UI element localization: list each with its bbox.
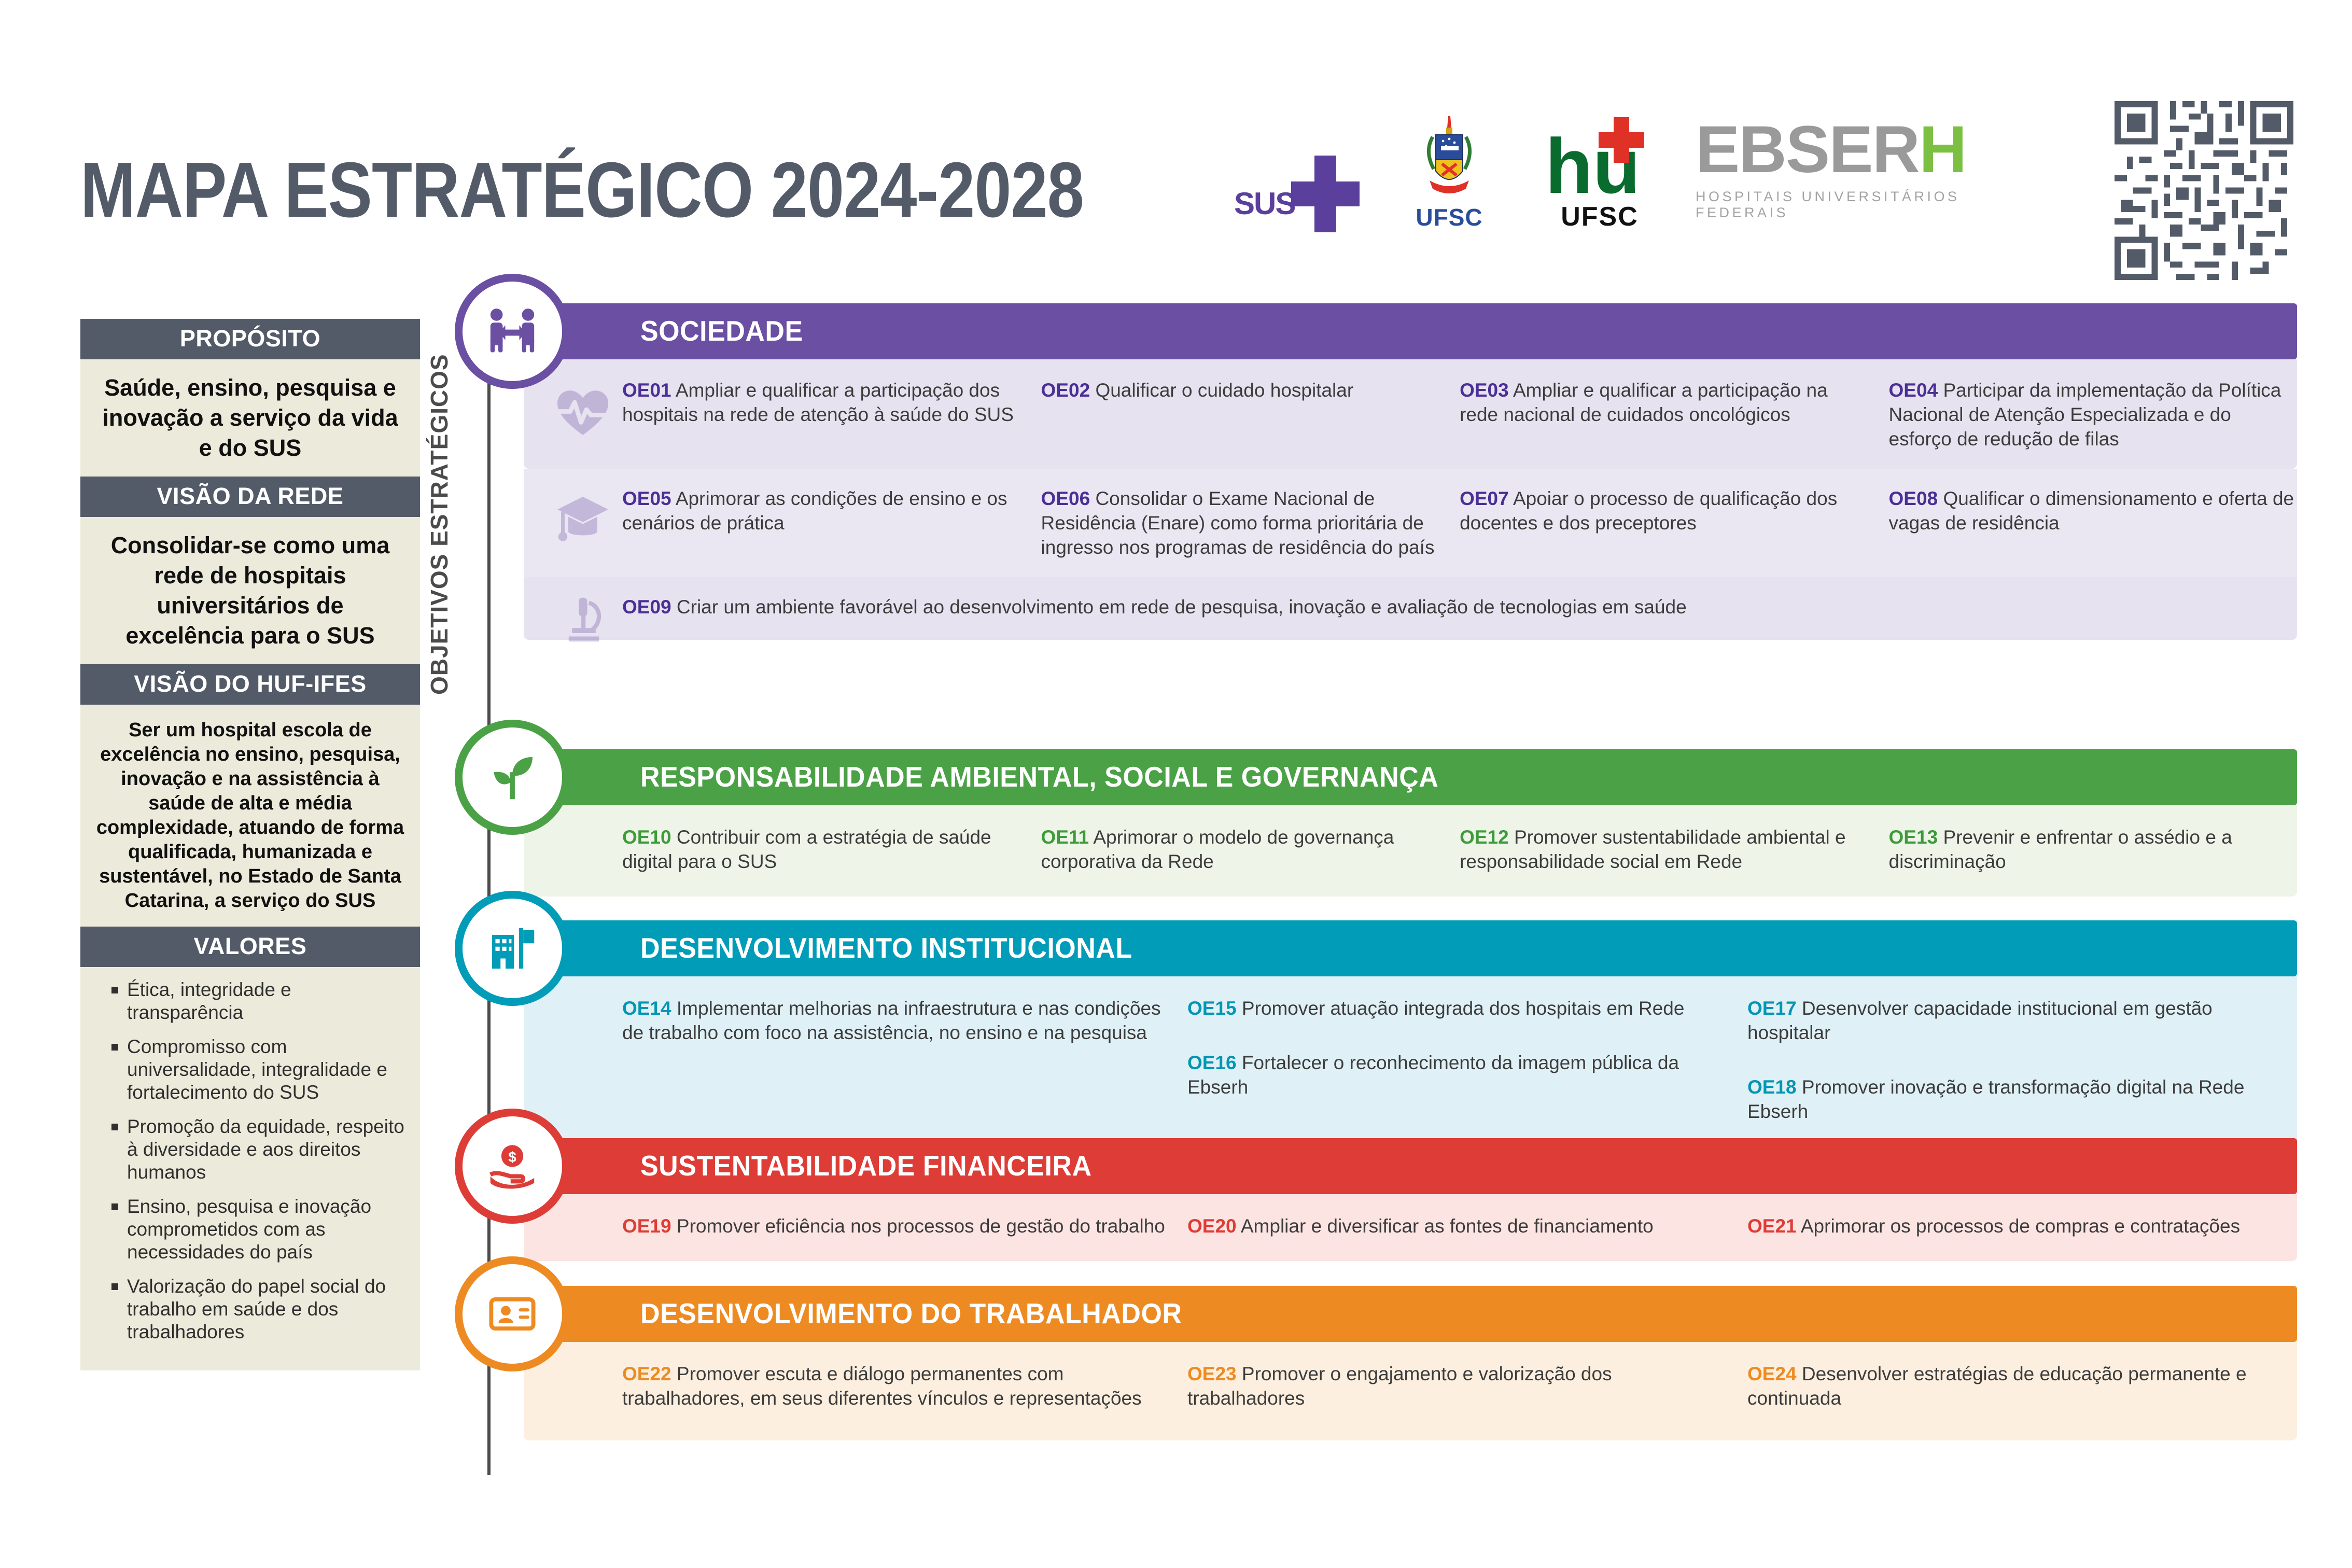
perspective-desenvolvimento-trabalhador: DESENVOLVIMENTO DO TRABALHADOR OE22 Prom…	[524, 1286, 2297, 1440]
sidebar-block-valores: Ética, integridade e transparênciaCompro…	[80, 967, 420, 1370]
poster-header: MAPA ESTRATÉGICO 2024-2028 SUS	[0, 0, 2352, 290]
objective-OE13: OE13 Prevenir e enfrentar o assédio e a …	[1889, 825, 2297, 874]
sidebar-heading-visao-rede: VISÃO DA REDE	[80, 477, 420, 517]
perspective-body-desenvolvimento-trabalhador: OE22 Promover escuta e diálogo permanent…	[524, 1342, 2297, 1440]
objective-code: OE02	[1041, 380, 1090, 401]
objective-code: OE09	[622, 596, 671, 618]
sidebar-block-visao-rede: Consolidar-se como uma rede de hospitais…	[80, 517, 420, 664]
objective-code: OE24	[1747, 1363, 1797, 1384]
valores-item: Ensino, pesquisa e inovação comprometido…	[106, 1195, 404, 1264]
ufsc-logo: UFSC	[1395, 114, 1504, 233]
objective-OE22: OE22 Promover escuta e diálogo permanent…	[622, 1362, 1167, 1410]
objective-text: Ampliar e qualificar a participação dos …	[622, 380, 1014, 425]
perspective-bar-desenvolvimento-trabalhador: DESENVOLVIMENTO DO TRABALHADOR	[524, 1286, 2297, 1342]
valores-item: Compromisso com universalidade, integral…	[106, 1035, 404, 1104]
proposito-text: Saúde, ensino, pesquisa e inovação a ser…	[96, 373, 404, 463]
objective-code: OE06	[1041, 488, 1090, 509]
objective-text: Promover inovação e transformação digita…	[1747, 1076, 2244, 1122]
objective-OE06: OE06 Consolidar o Exame Nacional de Resi…	[1041, 486, 1439, 559]
objective-OE14: OE14 Implementar melhorias na infraestru…	[622, 996, 1167, 1045]
perspective-body-sociedade-row1: OE01 Ampliar e qualificar a participação…	[524, 359, 2297, 469]
qr-code-icon[interactable]	[2115, 101, 2293, 280]
hand-money-icon: $	[463, 1116, 562, 1216]
objective-OE03: OE03 Ampliar e qualificar a participação…	[1460, 378, 1868, 427]
valores-item: Promoção da equidade, respeito à diversi…	[106, 1115, 404, 1184]
objective-OE20: OE20 Ampliar e diversificar as fontes de…	[1187, 1214, 1727, 1238]
objective-OE01: OE01 Ampliar e qualificar a participação…	[622, 378, 1020, 427]
sidebar: PROPÓSITO Saúde, ensino, pesquisa e inov…	[80, 319, 420, 1370]
perspective-sociedade: SOCIEDADE OE01 Ampliar e qualificar a pa…	[524, 303, 2297, 640]
id-badge-icon	[463, 1264, 562, 1364]
perspective-body-sustentabilidade-financeira: OE19 Promover eficiência nos processos d…	[524, 1194, 2297, 1261]
objective-code: OE03	[1460, 380, 1509, 401]
objective-code: OE10	[622, 827, 671, 848]
objective-text: Qualificar o dimensionamento e oferta de…	[1889, 488, 2294, 534]
sus-logo-text: SUS	[1234, 186, 1295, 221]
objective-OE11: OE11 Aprimorar o modelo de governança co…	[1041, 825, 1439, 874]
sidebar-heading-valores: VALORES	[80, 927, 420, 967]
objective-text: Implementar melhorias na infraestrutura …	[622, 998, 1161, 1043]
objective-text: Participar da implementação da Política …	[1889, 380, 2281, 450]
objective-OE09: OE09 Criar um ambiente favorável ao dese…	[622, 595, 2281, 619]
perspective-title-responsabilidade: RESPONSABILIDADE AMBIENTAL, SOCIAL E GOV…	[524, 761, 1438, 794]
perspective-bar-sustentabilidade-financeira: $ SUSTENTABILIDADE FINANCEIRA	[524, 1138, 2297, 1194]
objective-code: OE12	[1460, 827, 1509, 848]
sidebar-block-visao-huf: Ser um hospital escola de excelência no …	[80, 705, 420, 927]
objective-text: Aprimorar o modelo de governança corpora…	[1041, 827, 1394, 872]
objective-OE15: OE15 Promover atuação integrada dos hosp…	[1187, 996, 1727, 1020]
objective-code: OE19	[622, 1215, 671, 1237]
objective-text: Qualificar o cuidado hospitalar	[1095, 380, 1353, 401]
perspective-bar-desenvolvimento-institucional: DESENVOLVIMENTO INSTITUCIONAL	[524, 920, 2297, 976]
perspective-title-desenvolvimento-trabalhador: DESENVOLVIMENTO DO TRABALHADOR	[524, 1298, 1182, 1331]
objective-text: Aprimorar os processos de compras e cont…	[1801, 1215, 2240, 1237]
sprout-icon	[463, 727, 562, 827]
objective-text: Criar um ambiente favorável ao desenvolv…	[677, 596, 1687, 618]
objective-OE12: OE12 Promover sustentabilidade ambiental…	[1460, 825, 1868, 874]
sus-logo: SUS	[1234, 156, 1364, 233]
sidebar-heading-visao-huf: VISÃO DO HUF-IFES	[80, 664, 420, 705]
objective-code: OE07	[1460, 488, 1509, 509]
objective-OE07: OE07 Apoiar o processo de qualificação d…	[1460, 486, 1868, 535]
axis-label: OBJETIVOS ESTRATÉGICOS	[425, 354, 453, 695]
objective-OE08: OE08 Qualificar o dimensionamento e ofer…	[1889, 486, 2297, 535]
objective-code: OE13	[1889, 827, 1938, 848]
objective-text: Desenvolver capacidade institucional em …	[1747, 998, 2213, 1043]
ufsc-crest-icon	[1418, 114, 1480, 202]
perspective-body-responsabilidade: OE10 Contribuir com a estratégia de saúd…	[524, 805, 2297, 897]
heartbeat-icon	[554, 384, 612, 445]
perspective-body-desenvolvimento-institucional: OE14 Implementar melhorias na infraestru…	[524, 976, 2297, 1146]
objective-code: OE11	[1041, 827, 1089, 848]
ebserh-logo-h: H	[1919, 113, 1966, 187]
perspective-title-sustentabilidade-financeira: SUSTENTABILIDADE FINANCEIRA	[524, 1150, 1092, 1183]
perspective-body-sociedade-row3: OE09 Criar um ambiente favorável ao dese…	[524, 577, 2297, 640]
ebserh-logo: EBSERH HOSPITAIS UNIVERSITÁRIOS FEDERAIS	[1696, 114, 2038, 233]
objective-text: Consolidar o Exame Nacional de Residênci…	[1041, 488, 1435, 558]
objective-text: Prevenir e enfrentar o assédio e a discr…	[1889, 827, 2232, 872]
perspective-desenvolvimento-institucional: DESENVOLVIMENTO INSTITUCIONAL OE14 Imple…	[524, 920, 2297, 1146]
objective-OE18: OE18 Promover inovação e transformação d…	[1747, 1075, 2271, 1124]
sidebar-block-proposito: Saúde, ensino, pesquisa e inovação a ser…	[80, 359, 420, 477]
ebserh-logo-text: EBSER	[1696, 113, 1919, 187]
objective-code: OE21	[1747, 1215, 1797, 1237]
objective-code: OE17	[1747, 998, 1797, 1019]
valores-item: Ética, integridade e transparência	[106, 978, 404, 1024]
strategic-map-poster: MAPA ESTRATÉGICO 2024-2028 SUS	[0, 0, 2352, 1568]
graduation-cap-icon	[554, 489, 612, 550]
objective-text: Promover eficiência nos processos de ges…	[677, 1215, 1165, 1237]
objective-text: Ampliar e qualificar a participação na r…	[1460, 380, 1828, 425]
objective-OE24: OE24 Desenvolver estratégias de educação…	[1747, 1362, 2271, 1410]
hospital-building-icon	[463, 899, 562, 998]
objective-code: OE05	[622, 488, 671, 509]
objective-code: OE15	[1187, 998, 1237, 1019]
objective-OE10: OE10 Contribuir com a estratégia de saúd…	[622, 825, 1020, 874]
svg-text:$: $	[508, 1149, 516, 1165]
objective-code: OE08	[1889, 488, 1938, 509]
objective-text: Contribuir com a estratégia de saúde dig…	[622, 827, 991, 872]
objective-OE17: OE17 Desenvolver capacidade instituciona…	[1747, 996, 2271, 1045]
valores-list: Ética, integridade e transparênciaCompro…	[106, 978, 404, 1343]
objective-code: OE22	[622, 1363, 671, 1384]
page-title: MAPA ESTRATÉGICO 2024-2028	[80, 145, 1084, 235]
perspective-body-sociedade-row2: OE05 Aprimorar as condições de ensino e …	[524, 469, 2297, 577]
objective-OE21: OE21 Aprimorar os processos de compras e…	[1747, 1214, 2271, 1238]
sus-cross-bar-icon	[1291, 181, 1360, 206]
objective-text: Promover o engajamento e valorização dos…	[1187, 1363, 1612, 1409]
people-handshake-icon	[463, 282, 562, 381]
objective-code: OE23	[1187, 1363, 1237, 1384]
objective-OE16: OE16 Fortalecer o reconhecimento da imag…	[1187, 1051, 1727, 1099]
objective-text: Ampliar e diversificar as fontes de fina…	[1241, 1215, 1654, 1237]
objective-OE05: OE05 Aprimorar as condições de ensino e …	[622, 486, 1020, 535]
objective-text: Fortalecer o reconhecimento da imagem pú…	[1187, 1052, 1679, 1098]
perspective-bar-responsabilidade: RESPONSABILIDADE AMBIENTAL, SOCIAL E GOV…	[524, 749, 2297, 805]
visao-rede-text: Consolidar-se como uma rede de hospitais…	[96, 530, 404, 651]
microscope-icon	[557, 593, 611, 649]
objective-code: OE01	[622, 380, 671, 401]
objective-text: Promover sustentabilidade ambiental e re…	[1460, 827, 1846, 872]
sidebar-heading-proposito: PROPÓSITO	[80, 319, 420, 359]
objective-text: Apoiar o processo de qualificação dos do…	[1460, 488, 1837, 534]
objective-OE23: OE23 Promover o engajamento e valorizaçã…	[1187, 1362, 1727, 1410]
objective-code: OE20	[1187, 1215, 1237, 1237]
perspective-sustentabilidade-financeira: $ SUSTENTABILIDADE FINANCEIRA OE19 Promo…	[524, 1138, 2297, 1261]
valores-item: Valorização do papel social do trabalho …	[106, 1275, 404, 1343]
objective-OE19: OE19 Promover eficiência nos processos d…	[622, 1214, 1167, 1238]
objective-text: Promover escuta e diálogo permanentes co…	[622, 1363, 1142, 1409]
hu-ufsc-logo: hu UFSC	[1535, 114, 1664, 233]
ebserh-tagline: HOSPITAIS UNIVERSITÁRIOS FEDERAIS	[1696, 189, 2038, 221]
objective-code: OE16	[1187, 1052, 1237, 1073]
objective-text: Desenvolver estratégias de educação perm…	[1747, 1363, 2247, 1409]
hu-cross-bar-icon	[1599, 132, 1644, 148]
perspective-title-desenvolvimento-institucional: DESENVOLVIMENTO INSTITUCIONAL	[524, 932, 1132, 965]
objective-OE04: OE04 Participar da implementação da Polí…	[1889, 378, 2297, 451]
objective-text: Promover atuação integrada dos hospitais…	[1242, 998, 1685, 1019]
objective-code: OE14	[622, 998, 671, 1019]
objective-code: OE18	[1747, 1076, 1797, 1098]
visao-huf-text: Ser um hospital escola de excelência no …	[96, 718, 404, 913]
perspective-responsabilidade: RESPONSABILIDADE AMBIENTAL, SOCIAL E GOV…	[524, 749, 2297, 897]
objective-OE02: OE02 Qualificar o cuidado hospitalar	[1041, 378, 1439, 402]
objective-text: Aprimorar as condições de ensino e os ce…	[622, 488, 1007, 534]
ufsc-logo-text: UFSC	[1395, 203, 1504, 231]
objective-code: OE04	[1889, 380, 1938, 401]
logo-row: SUS	[1234, 114, 2038, 233]
perspective-bar-sociedade: SOCIEDADE	[524, 303, 2297, 359]
